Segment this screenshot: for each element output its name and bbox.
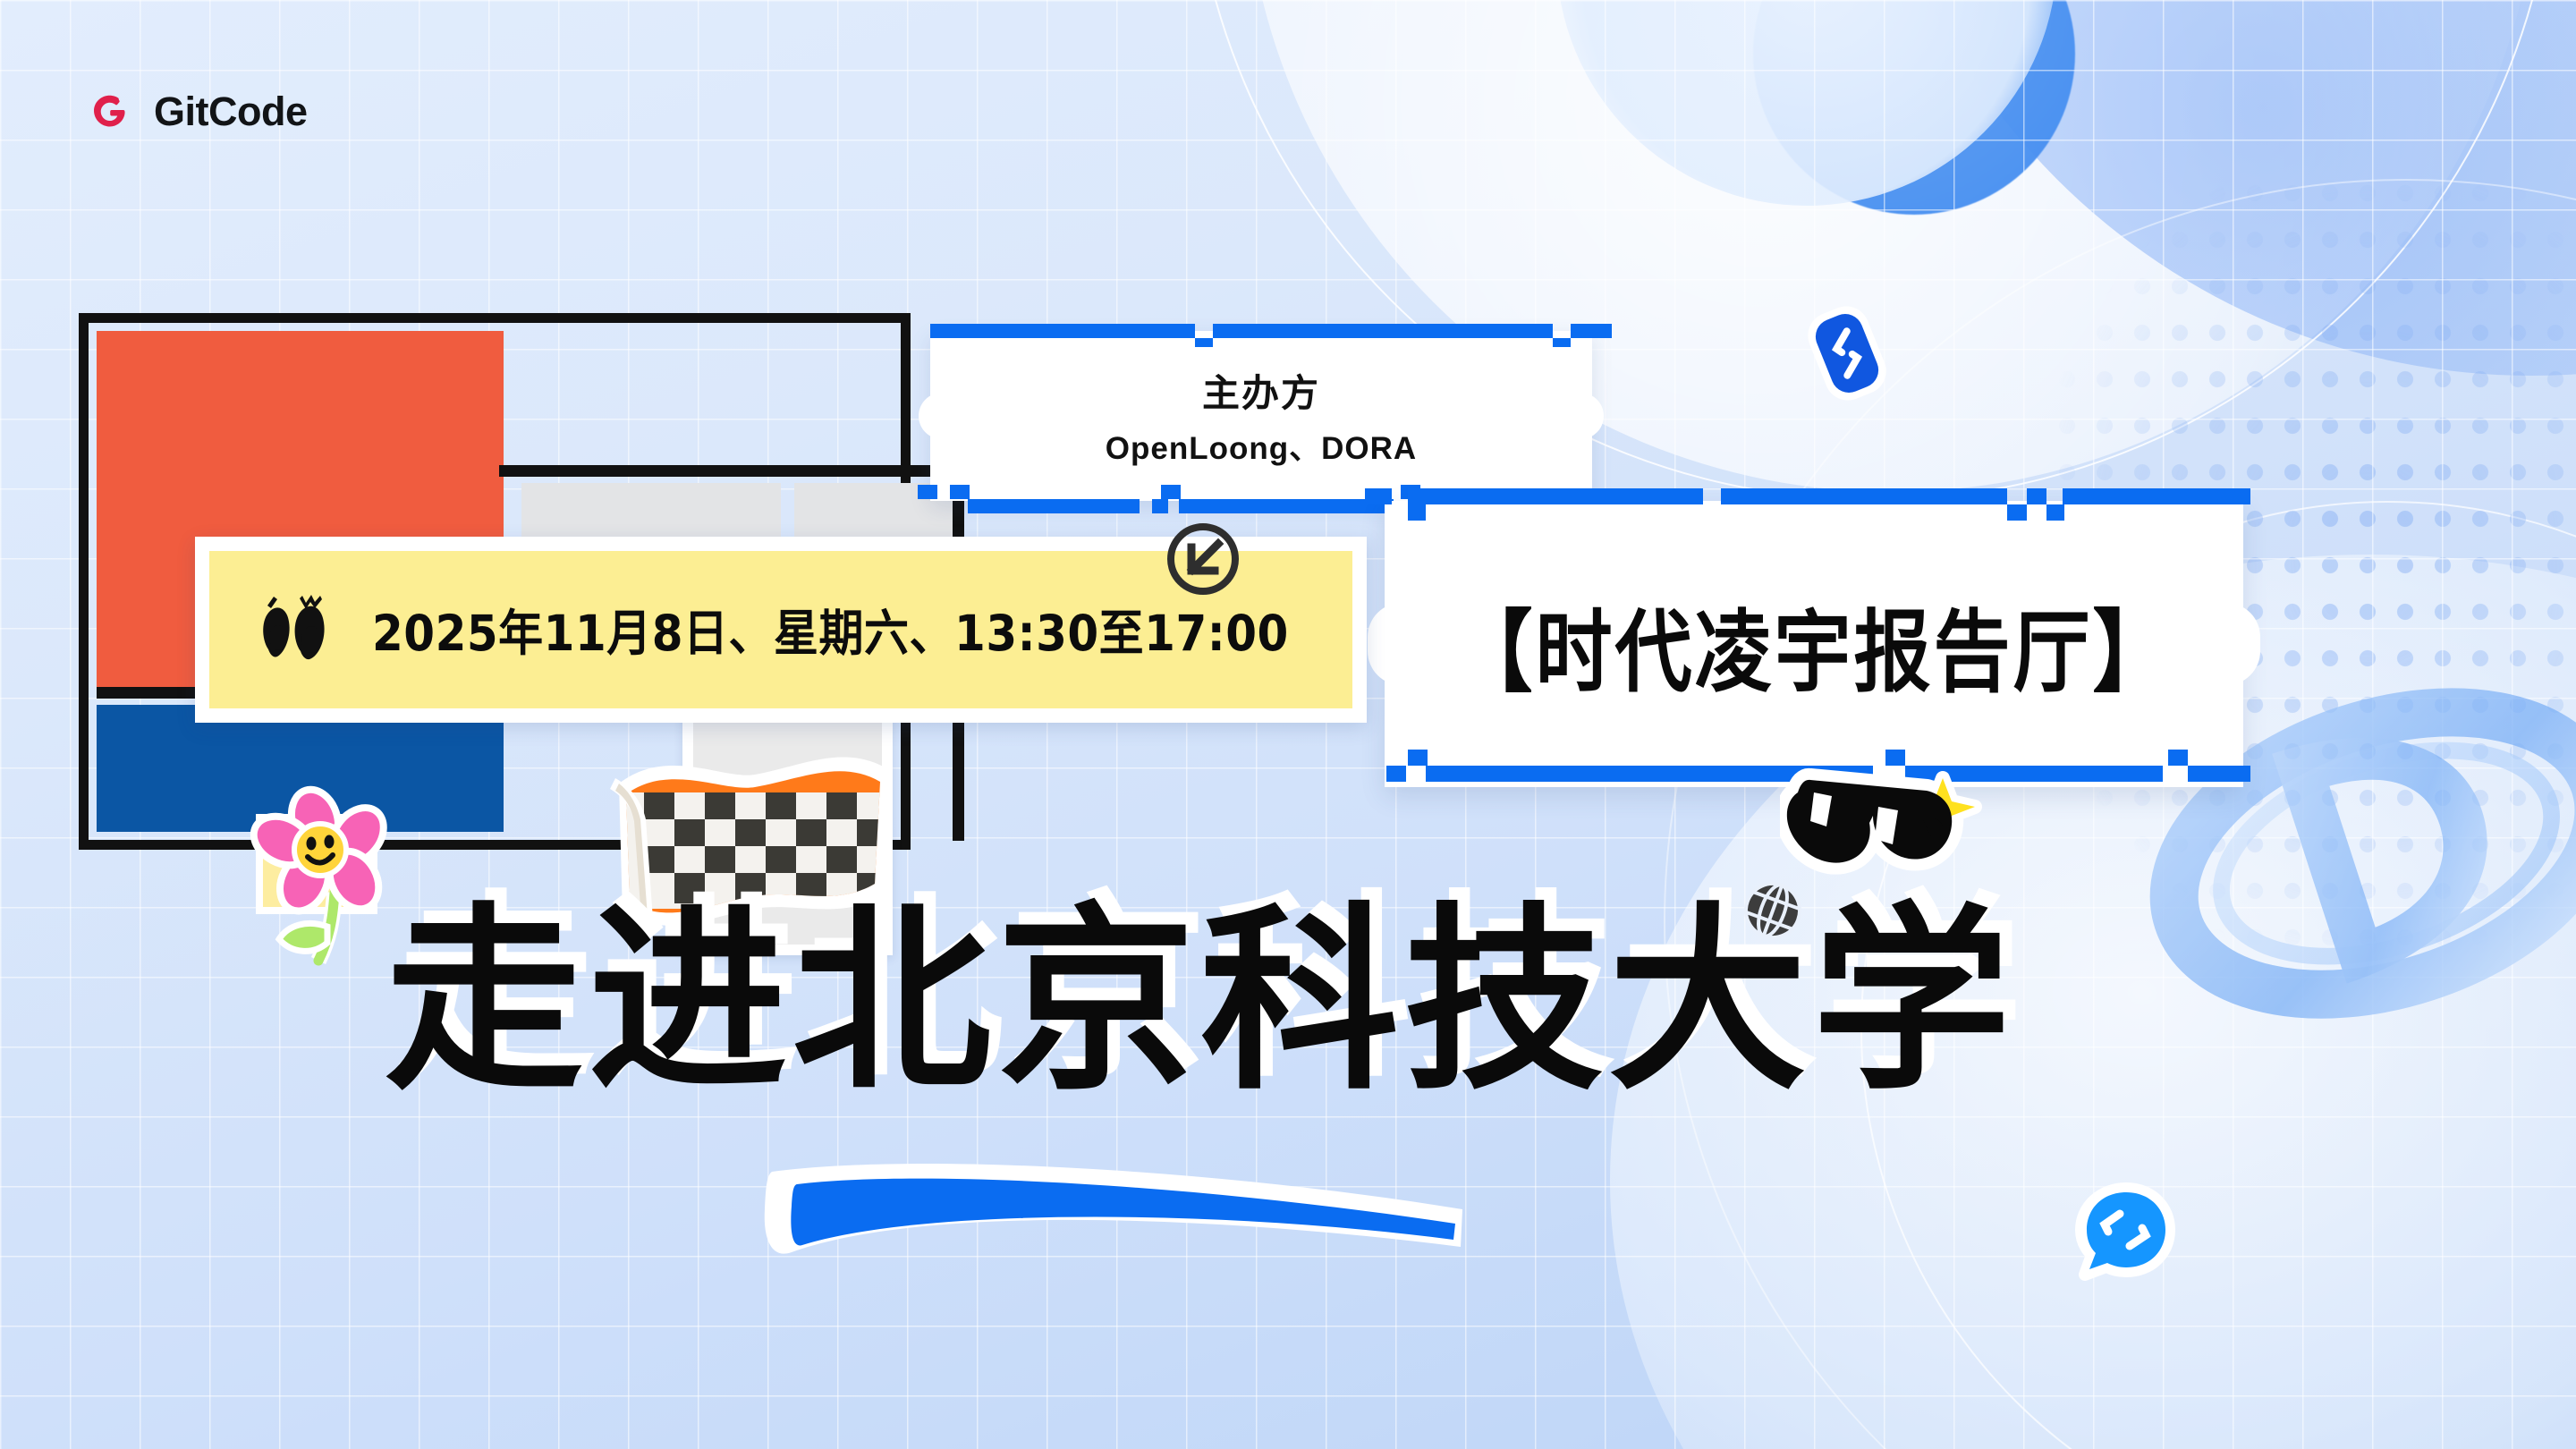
mondrian-divider-1 xyxy=(499,465,964,477)
organizer-card: 主办方 OpenLoong、DORA xyxy=(930,331,1592,501)
organizer-card-pixel-border-top xyxy=(918,317,1612,347)
gitcode-g-logo-icon xyxy=(86,88,134,136)
brand-logo[interactable]: GitCode xyxy=(86,88,308,136)
page-title-text: 走进北京科技大学 xyxy=(385,886,2016,1117)
bg-blob-blue-circle xyxy=(1753,0,2075,215)
event-poster: GitCode xyxy=(0,0,2576,1449)
venue-card-pixel-border-bottom xyxy=(1365,750,2268,792)
venue-card-tab-right xyxy=(2226,603,2260,685)
page-title: 走进北京科技大学 走进北京科技大学 xyxy=(385,894,2227,1100)
datetime-text: 2025年11月8日、星期六、13:30至17:00 xyxy=(372,594,1289,665)
organizer-label: 主办方 xyxy=(1202,363,1320,418)
mondrian-blue-block xyxy=(97,705,504,832)
venue-card-pixel-border-top xyxy=(1365,481,2268,521)
chat-bubble-code-icon xyxy=(2071,1176,2178,1284)
venue-name: 【时代凌宇报告厅】 xyxy=(1456,580,2173,709)
bg-arc-mid xyxy=(1664,179,2576,1449)
swoosh-underline-icon xyxy=(756,1154,1471,1288)
venue-card: 【时代凌宇报告厅】 xyxy=(1385,501,2243,787)
bg-blob-pale-overlay xyxy=(1556,0,2057,206)
datetime-banner: 2025年11月8日、星期六、13:30至17:00 xyxy=(195,537,1367,723)
organizer-value: OpenLoong、DORA xyxy=(1106,423,1417,469)
organizer-card-tab-left xyxy=(919,393,942,439)
organizer-card-tab-right xyxy=(1580,393,1604,439)
eyes-sticker-icon xyxy=(256,594,338,665)
bg-blob-deep-band xyxy=(1860,0,2576,376)
brand-name: GitCode xyxy=(154,89,308,135)
venue-card-tab-left xyxy=(1368,603,1402,685)
code-diamond-icon xyxy=(1789,295,1905,411)
